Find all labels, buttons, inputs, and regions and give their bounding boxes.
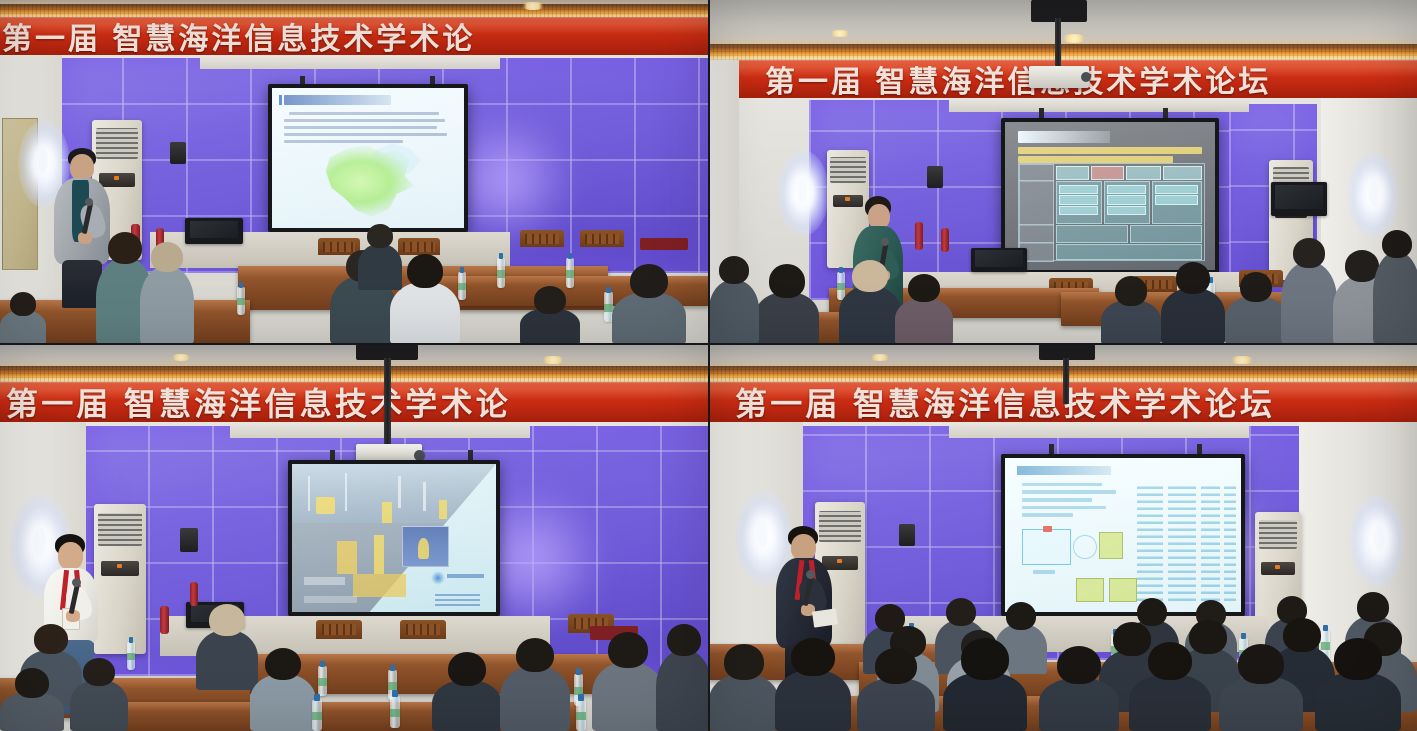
audience-member [839,286,901,344]
audience-member [1373,252,1417,344]
audience-member [1129,674,1211,731]
projection-screen [1001,454,1245,616]
desk-monitor [971,248,1027,272]
chair [316,620,362,652]
audience-member [1315,672,1401,731]
thermos [160,606,169,634]
thermos [941,228,949,252]
projector-pole [1063,358,1069,404]
audience-member [0,310,46,344]
audience-member [775,670,851,731]
banner-text: 第一届 智慧海洋信息技术学术论 [2,17,475,55]
chair [400,620,446,652]
ceiling-cove-light [709,44,1417,60]
audience-member [196,630,258,690]
banner-text: 第一届 智慧海洋信息技术学术论坛 [765,60,1271,98]
audience-member [1039,678,1119,731]
audience-member [895,298,953,344]
panel-divider-horizontal [0,343,1417,345]
wall-soffit [230,422,530,438]
banner-text: 第一届 智慧海洋信息技术学术论 [6,382,511,422]
wall-soffit [200,55,500,69]
desk-monitor [1271,182,1327,216]
projection-screen [288,460,500,616]
projector-pole [1055,18,1061,70]
audience-member [70,680,128,731]
wall-soffit [949,98,1249,112]
audience-member [709,280,759,344]
panel-bottom-right: 第一届 智慧海洋信息技术学术论坛 [709,344,1417,731]
slide-map [272,88,464,228]
thermos [915,222,923,250]
panel-top-left: 第一届 智慧海洋信息技术学术论 [0,0,709,344]
wall-soffit [949,422,1249,438]
audience-member [1225,296,1287,344]
audience-member [612,292,686,344]
audience-member [432,680,502,731]
slide-photo-collage [292,464,496,612]
chair [520,230,564,260]
wall-speaker [899,524,915,546]
wall-speaker [170,142,186,164]
panel-divider-vertical [708,0,710,731]
audience-member [943,672,1027,731]
ceiling-projector [1029,66,1089,88]
audience-member [709,674,779,731]
projector-pole [384,358,391,448]
thermos [190,582,198,606]
panel-bottom-left: 第一届 智慧海洋信息技术学术论 [0,344,709,731]
audience-member [250,674,316,731]
chair-cushion [640,238,688,250]
audience-member [390,282,460,344]
event-banner: 第一届 智慧海洋信息技术学术论 [0,17,709,55]
desk-monitor [185,218,243,244]
audience-member [1161,288,1225,344]
audience-member [1101,300,1161,344]
audience-member [520,308,580,344]
audience-member [140,266,194,344]
audience-member [500,666,570,731]
event-banner: 第一届 智慧海洋信息技术学术论 [0,382,709,422]
chair [580,230,624,260]
slide-architecture [1005,122,1215,270]
audience-member [1281,262,1337,344]
ceiling-cove-light [0,366,709,382]
audience-member [1219,676,1303,731]
audience-member [857,678,935,731]
slide-data-table [1005,458,1241,612]
audience-member [592,662,664,731]
audience-member [358,244,402,290]
projection-screen [1001,118,1219,274]
wall-speaker [180,528,198,552]
ceiling-cove-light [0,4,709,18]
projection-screen [268,84,468,232]
audience-member [755,292,819,344]
banner-text: 第一届 智慧海洋信息技术学术论坛 [735,382,1275,422]
wall-speaker [927,166,943,188]
audience-member [656,650,709,731]
audience-member [0,692,64,731]
photo-collage-stage: 第一届 智慧海洋信息技术学术论 [0,0,1417,731]
panel-top-right: 第一届 智慧海洋信息技术学术论坛 [709,0,1417,344]
